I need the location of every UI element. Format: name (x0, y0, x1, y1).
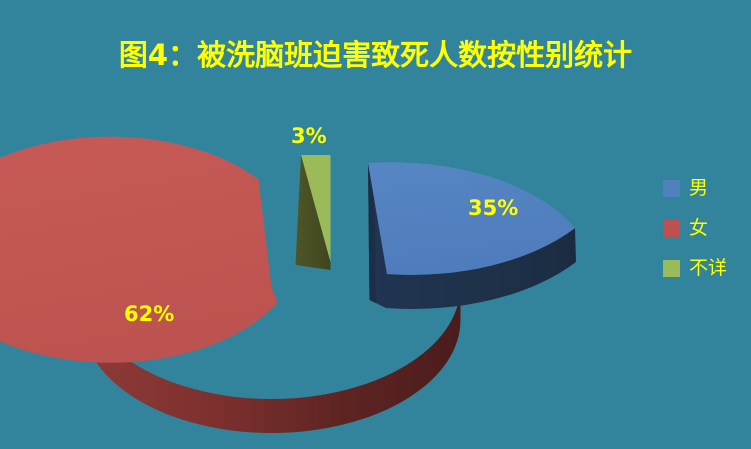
pie-label-male: 35% (468, 196, 518, 220)
legend-item-male[interactable]: 男 (663, 168, 751, 208)
pie-slice-female-top (0, 137, 278, 363)
legend-item-female[interactable]: 女 (663, 208, 751, 248)
legend-label-unknown: 不详 (689, 259, 727, 278)
legend-swatch-female-icon (663, 220, 680, 237)
legend-label-female: 女 (689, 219, 708, 238)
pie-slice-male[interactable] (368, 162, 576, 309)
pie-chart-container: 图4：被洗脑班迫害致死人数按性别统计 (0, 0, 751, 449)
pie-chart-graphic (0, 0, 751, 449)
legend-swatch-male-icon (663, 180, 680, 197)
legend-label-male: 男 (689, 179, 708, 198)
pie-label-unknown: 3% (291, 124, 327, 148)
pie-slice-unknown[interactable] (296, 155, 331, 270)
pie-label-female: 62% (124, 302, 174, 326)
legend-swatch-unknown-icon (663, 260, 680, 277)
chart-legend: 男 女 不详 (663, 168, 751, 288)
legend-item-unknown[interactable]: 不详 (663, 248, 751, 288)
